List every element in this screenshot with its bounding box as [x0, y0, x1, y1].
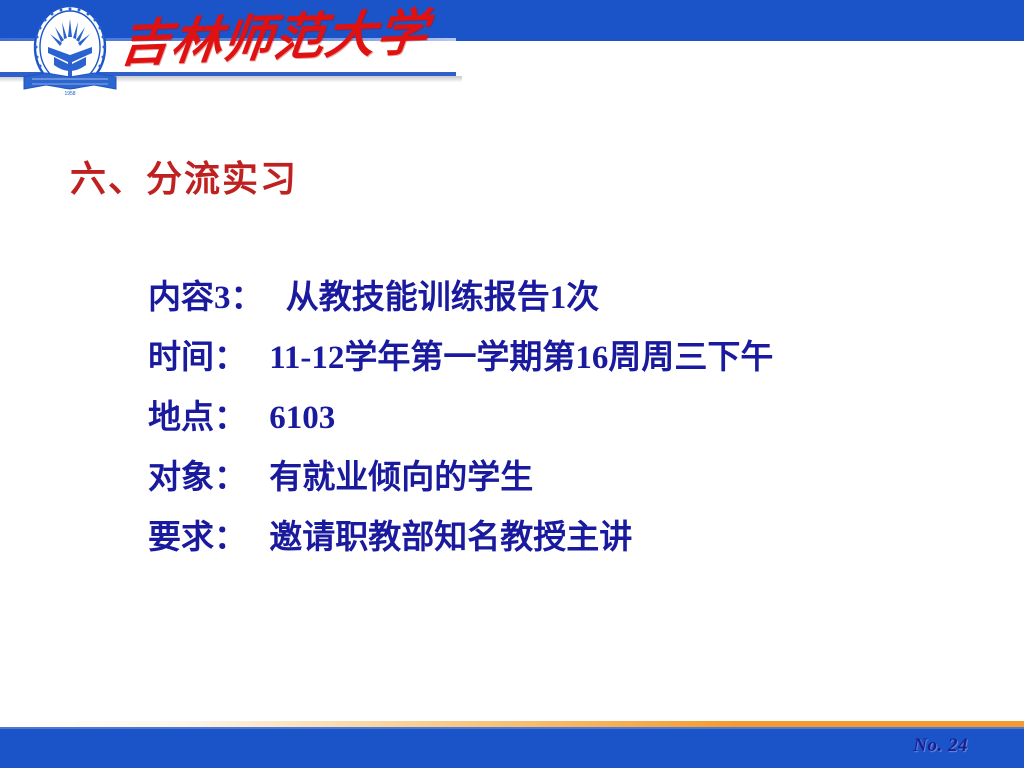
content-line-4-value: 有就业倾向的学生 — [269, 460, 533, 496]
content-line-3-value: 6103 — [269, 400, 335, 436]
page-number: No. 24 — [913, 735, 968, 757]
content-line-2-label: 时间： — [148, 340, 247, 376]
university-name-calligraphy: 吉林师范大学 — [116, 1, 455, 78]
content-line-1: 内容3： 从教技能训练报告1次 — [148, 268, 978, 328]
footer-bar-highlight — [0, 727, 1024, 729]
content-body: 内容3： 从教技能训练报告1次 时间： 11-12学年第一学期第16周周三下午 … — [148, 268, 978, 568]
slide-header: 1958 吉林师范大学 — [0, 0, 1024, 110]
content-line-1-label: 内容3： — [148, 280, 264, 316]
content-line-2: 时间： 11-12学年第一学期第16周周三下午 — [148, 328, 978, 388]
content-line-5: 要求： 邀请职教部知名教授主讲 — [148, 508, 978, 568]
content-line-2-value: 11-12学年第一学期第16周周三下午 — [269, 340, 773, 376]
content-line-4: 对象： 有就业倾向的学生 — [148, 448, 978, 508]
header-blue-band-right — [456, 0, 1024, 41]
slide-canvas: 1958 吉林师范大学 六、分流实习 内容3： 从教技能训练报告1次 时间： 1… — [0, 0, 1024, 768]
content-line-5-label: 要求： — [148, 520, 247, 556]
svg-text:1958: 1958 — [64, 91, 75, 97]
footer-blue-bar — [0, 727, 1024, 768]
content-line-1-value: 从教技能训练报告1次 — [286, 280, 600, 316]
content-line-5-value: 邀请职教部知名教授主讲 — [269, 520, 632, 556]
content-line-4-label: 对象： — [148, 460, 247, 496]
content-line-3-label: 地点： — [148, 400, 247, 436]
section-title: 六、分流实习 — [70, 150, 298, 202]
content-line-3: 地点： 6103 — [148, 388, 978, 448]
university-emblem-icon: 1958 — [18, 3, 122, 103]
